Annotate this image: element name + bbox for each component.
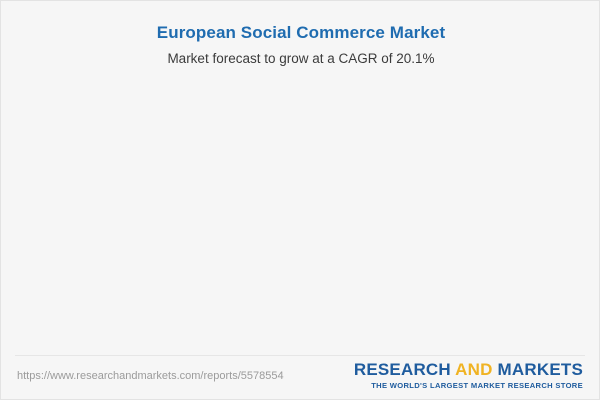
chart-card: European Social Commerce Market Market f… [0,0,600,400]
report-url-link[interactable]: https://www.researchandmarkets.com/repor… [17,370,284,382]
logo-word-and: AND [455,360,492,379]
logo-word-research: RESEARCH [354,360,455,379]
research-and-markets-logo[interactable]: RESEARCH AND MARKETS THE WORLD'S LARGEST… [354,361,583,390]
logo-wordmark: RESEARCH AND MARKETS [354,361,583,379]
logo-word-markets: MARKETS [493,360,583,379]
logo-tagline: THE WORLD'S LARGEST MARKET RESEARCH STOR… [354,381,583,390]
plot-area: USD 92.1 Billion 2024 USD 230.5 Billion [1,1,600,353]
footer-divider [15,355,585,356]
